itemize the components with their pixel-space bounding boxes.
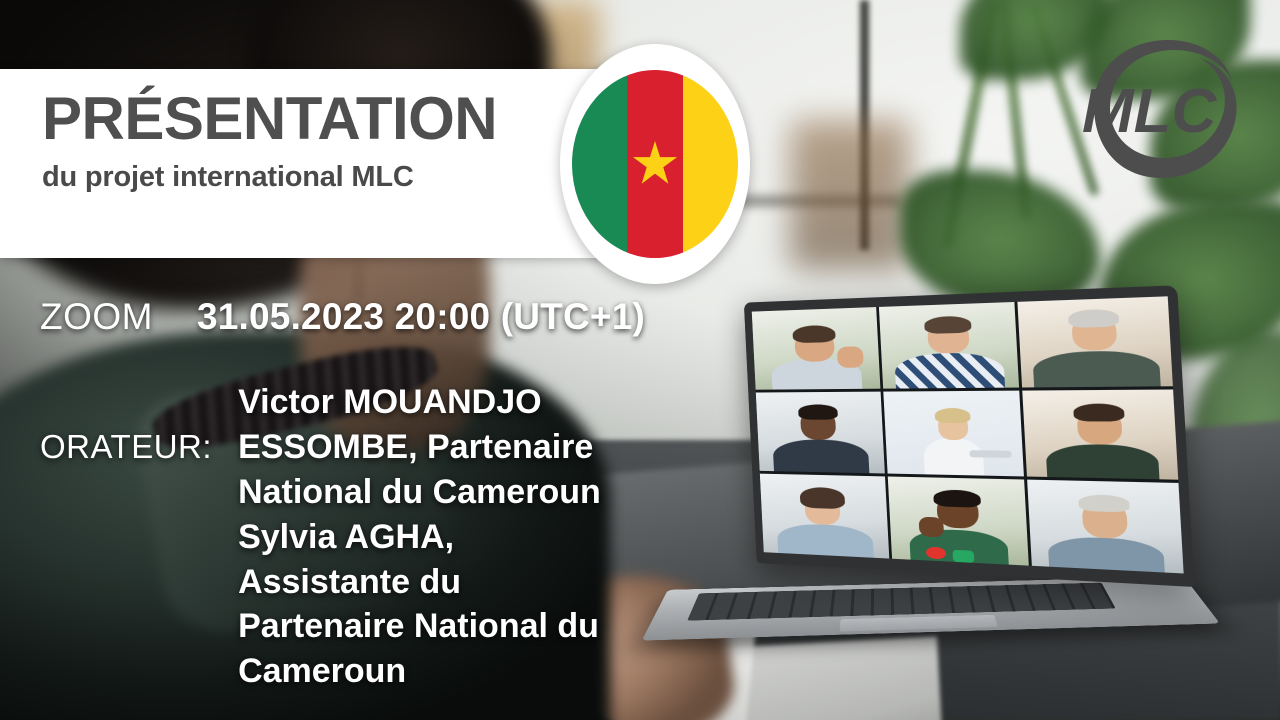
video-tile xyxy=(752,307,880,390)
video-tile xyxy=(1023,389,1179,479)
laptop-screen xyxy=(752,296,1184,573)
video-tile xyxy=(1027,480,1183,574)
laptop-trackpad xyxy=(840,615,998,632)
laptop-keyboard xyxy=(687,583,1115,621)
header-text-block: PRÉSENTATION du projet international MLC xyxy=(42,89,562,194)
video-call-grid xyxy=(752,296,1184,573)
video-tile xyxy=(760,474,889,559)
speaker-info: ORATEUR: Victor MOUANDJOESSOMBE, Partena… xyxy=(40,380,740,694)
speaker-line: Partenaire National du xyxy=(238,604,601,649)
speaker-line: ESSOMBE, Partenaire xyxy=(238,425,601,470)
meeting-info: ZOOM 31.05.2023 20:00 (UTC+1) xyxy=(40,296,645,338)
promo-banner: PRÉSENTATION du projet international MLC… xyxy=(0,0,1280,720)
blurred-shelf-object xyxy=(790,120,910,270)
video-tile xyxy=(879,302,1020,389)
mlc-logo: MLC xyxy=(1068,34,1240,184)
cameroon-flag-icon xyxy=(572,70,738,258)
page-subtitle: du projet international MLC xyxy=(42,161,562,194)
video-tile xyxy=(1018,296,1173,387)
speaker-label: ORATEUR: xyxy=(40,380,212,466)
speaker-line: Victor MOUANDJO xyxy=(238,380,601,425)
mlc-wordmark: MLC xyxy=(1082,77,1218,146)
speaker-line: Assistante du xyxy=(238,560,601,605)
laptop-lid xyxy=(744,285,1195,587)
video-tile xyxy=(887,476,1029,565)
platform-label: ZOOM xyxy=(40,296,153,338)
flag-badge xyxy=(560,44,750,284)
speaker-line: Cameroun xyxy=(238,649,601,694)
meeting-datetime: 31.05.2023 20:00 (UTC+1) xyxy=(197,296,645,338)
speaker-line: Sylvia AGHA, xyxy=(238,515,601,560)
video-tile xyxy=(883,391,1024,477)
video-tile xyxy=(756,392,885,474)
speaker-names: Victor MOUANDJOESSOMBE, PartenaireNation… xyxy=(238,380,601,694)
speaker-line: National du Cameroun xyxy=(238,470,601,515)
page-title: PRÉSENTATION xyxy=(42,89,562,149)
